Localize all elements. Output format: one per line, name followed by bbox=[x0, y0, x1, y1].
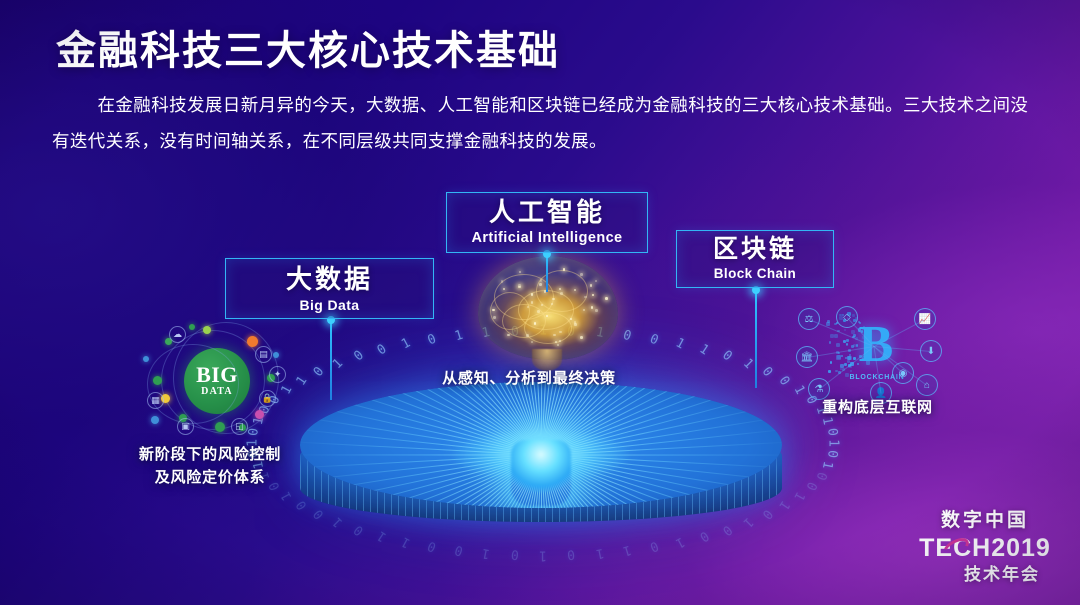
binary-digit: 1 bbox=[539, 548, 547, 563]
label-box-block-chain[interactable]: 区块链 Block Chain bbox=[676, 230, 834, 288]
binary-digit: 0 bbox=[374, 341, 389, 358]
blockchain-pixel bbox=[828, 370, 832, 374]
blockchain-pixel bbox=[856, 344, 858, 346]
blockchain-pixel bbox=[844, 329, 846, 331]
brain-fold bbox=[490, 292, 530, 330]
binary-digit: 0 bbox=[426, 331, 439, 348]
brain-synapse-spark bbox=[574, 323, 577, 326]
binary-digit: 0 bbox=[812, 470, 829, 482]
caption-ai: 从感知、分析到最终决策 bbox=[424, 367, 634, 388]
brain-synapse-spark bbox=[580, 273, 583, 276]
big-data-icon-cluster: BIG DATA ▦▤🔒☁◱▣✦ bbox=[143, 322, 285, 437]
binary-digit: 1 bbox=[399, 336, 413, 353]
binary-digit: 0 bbox=[426, 538, 439, 555]
blockchain-pixel bbox=[851, 345, 853, 347]
blockchain-pixel bbox=[834, 334, 838, 338]
binary-digit: 0 bbox=[824, 449, 840, 458]
binary-digit: 1 bbox=[819, 416, 835, 427]
big-data-orb bbox=[247, 336, 258, 347]
label-ai-en: Artificial Intelligence bbox=[447, 229, 647, 248]
binary-digit: 0 bbox=[802, 479, 819, 492]
brain-synapse-spark bbox=[574, 289, 577, 292]
big-data-mini-icon: ▣ bbox=[177, 418, 194, 435]
brain-synapse-spark bbox=[531, 301, 534, 304]
binary-digit: 1 bbox=[790, 489, 807, 503]
binary-digit: 1 bbox=[819, 460, 835, 471]
connector-stem-ai bbox=[546, 254, 548, 292]
big-data-orb bbox=[189, 324, 195, 330]
brain-synapse-spark bbox=[492, 309, 495, 312]
label-ai-cn: 人工智能 bbox=[447, 193, 647, 229]
brain-fold bbox=[524, 312, 572, 344]
big-data-orb bbox=[153, 376, 162, 385]
slide-canvas: 金融科技三大核心技术基础 在金融科技发展日新月异的今天，大数据、人工智能和区块链… bbox=[0, 0, 1080, 605]
blockchain-pixel bbox=[836, 343, 840, 347]
disc-top-surface bbox=[300, 382, 782, 508]
blockchain-pixel bbox=[845, 373, 849, 377]
label-box-artificial-intelligence[interactable]: 人工智能 Artificial Intelligence bbox=[446, 192, 648, 253]
label-block-chain-cn: 区块链 bbox=[677, 231, 833, 265]
binary-digit: 0 bbox=[567, 547, 576, 563]
page-title: 金融科技三大核心技术基础 bbox=[56, 18, 560, 76]
brain-synapse-spark bbox=[526, 334, 529, 337]
brain-synapse-spark bbox=[501, 280, 504, 283]
label-big-data-cn: 大数据 bbox=[226, 259, 433, 296]
big-data-mini-icon: ◱ bbox=[231, 418, 248, 435]
blockchain-pixel bbox=[830, 361, 833, 364]
binary-digit: 1 bbox=[673, 336, 687, 353]
caption-big-data-line1: 新阶段下的风险控制 bbox=[105, 443, 315, 466]
binary-digit: 0 bbox=[647, 538, 660, 555]
caption-big-data-line2: 及风险定价体系 bbox=[105, 466, 315, 489]
logo-line-digital-china: 数字中国 bbox=[905, 508, 1065, 534]
brain-synapse-spark bbox=[493, 316, 496, 319]
big-data-mini-icon: ✦ bbox=[269, 366, 286, 383]
big-data-mini-icon: ☁ bbox=[169, 326, 186, 343]
logo-line-annual-conference: 技术年会 bbox=[905, 563, 1065, 587]
big-data-orb bbox=[273, 352, 279, 358]
blockchain-pixel bbox=[846, 343, 848, 345]
big-data-mini-icon: ▦ bbox=[147, 392, 164, 409]
blockchain-pixel bbox=[846, 339, 849, 342]
binary-digit: 0 bbox=[621, 327, 633, 344]
ai-brain-icon bbox=[478, 256, 618, 360]
label-big-data-en: Big Data bbox=[226, 296, 433, 315]
blockchain-pixel bbox=[848, 356, 852, 360]
blockchain-pixel bbox=[851, 330, 855, 334]
binary-digit: 1 bbox=[594, 545, 605, 561]
disc-core-beam bbox=[511, 440, 571, 506]
connector-stem-block-chain bbox=[755, 290, 757, 388]
blockchain-pixel bbox=[866, 360, 870, 364]
binary-digit: 0 bbox=[510, 547, 519, 563]
brain-synapse-spark bbox=[595, 309, 598, 312]
big-data-orb bbox=[215, 422, 225, 432]
logo-tech2019-text: TECH2019 bbox=[919, 534, 1051, 562]
label-block-chain-en: Block Chain bbox=[677, 265, 833, 283]
brain-synapse-spark bbox=[560, 292, 563, 295]
blockchain-pixel bbox=[829, 341, 831, 343]
label-box-big-data[interactable]: 大数据 Big Data bbox=[225, 258, 434, 319]
blockchain-pixel bbox=[843, 340, 845, 342]
caption-block-chain: 重构底层互联网 bbox=[795, 396, 960, 417]
binary-digit: 1 bbox=[453, 327, 465, 344]
big-data-orb bbox=[255, 410, 264, 419]
blockchain-pixel bbox=[830, 334, 834, 338]
blockchain-pixel bbox=[837, 355, 840, 358]
binary-digit: 1 bbox=[481, 545, 492, 561]
binary-digit: 0 bbox=[824, 427, 840, 436]
big-data-orb bbox=[151, 416, 159, 424]
central-platform-disc bbox=[290, 370, 792, 540]
big-data-orb bbox=[143, 356, 149, 362]
event-logo: 数字中国 TECH2019 技术年会 bbox=[905, 508, 1065, 587]
brain-synapse-spark bbox=[605, 297, 608, 300]
binary-digit: 1 bbox=[621, 542, 633, 559]
big-data-mini-icon: ▤ bbox=[255, 346, 272, 363]
blockchain-pixel bbox=[841, 355, 843, 357]
blockchain-icon-cluster: B BLOCKCHAIN ⚖🏛⚗📈⬇⌂👤◇◉ bbox=[796, 306, 946, 406]
big-data-mini-icon: 🔒 bbox=[259, 390, 276, 407]
blockchain-pixel bbox=[866, 333, 868, 335]
logo-line-tech2019: TECH2019 bbox=[919, 534, 1051, 563]
binary-digit: 1 bbox=[826, 439, 841, 447]
brain-synapse-spark bbox=[539, 283, 542, 286]
binary-digit: 0 bbox=[647, 331, 660, 348]
intro-paragraph: 在金融科技发展日新月异的今天，大数据、人工智能和区块链已经成为金融科技的三大核心… bbox=[52, 88, 1037, 160]
connector-stem-big-data bbox=[330, 320, 332, 400]
brain-synapse-spark bbox=[518, 284, 521, 287]
big-data-orb bbox=[203, 326, 211, 334]
binary-digit: 1 bbox=[697, 341, 712, 358]
brain-synapse-spark bbox=[580, 336, 583, 339]
caption-big-data: 新阶段下的风险控制 及风险定价体系 bbox=[105, 443, 315, 489]
binary-digit: 0 bbox=[719, 348, 735, 365]
binary-digit: 0 bbox=[453, 542, 465, 559]
binary-digit: 0 bbox=[351, 348, 367, 365]
brain-synapse-spark bbox=[537, 310, 540, 313]
